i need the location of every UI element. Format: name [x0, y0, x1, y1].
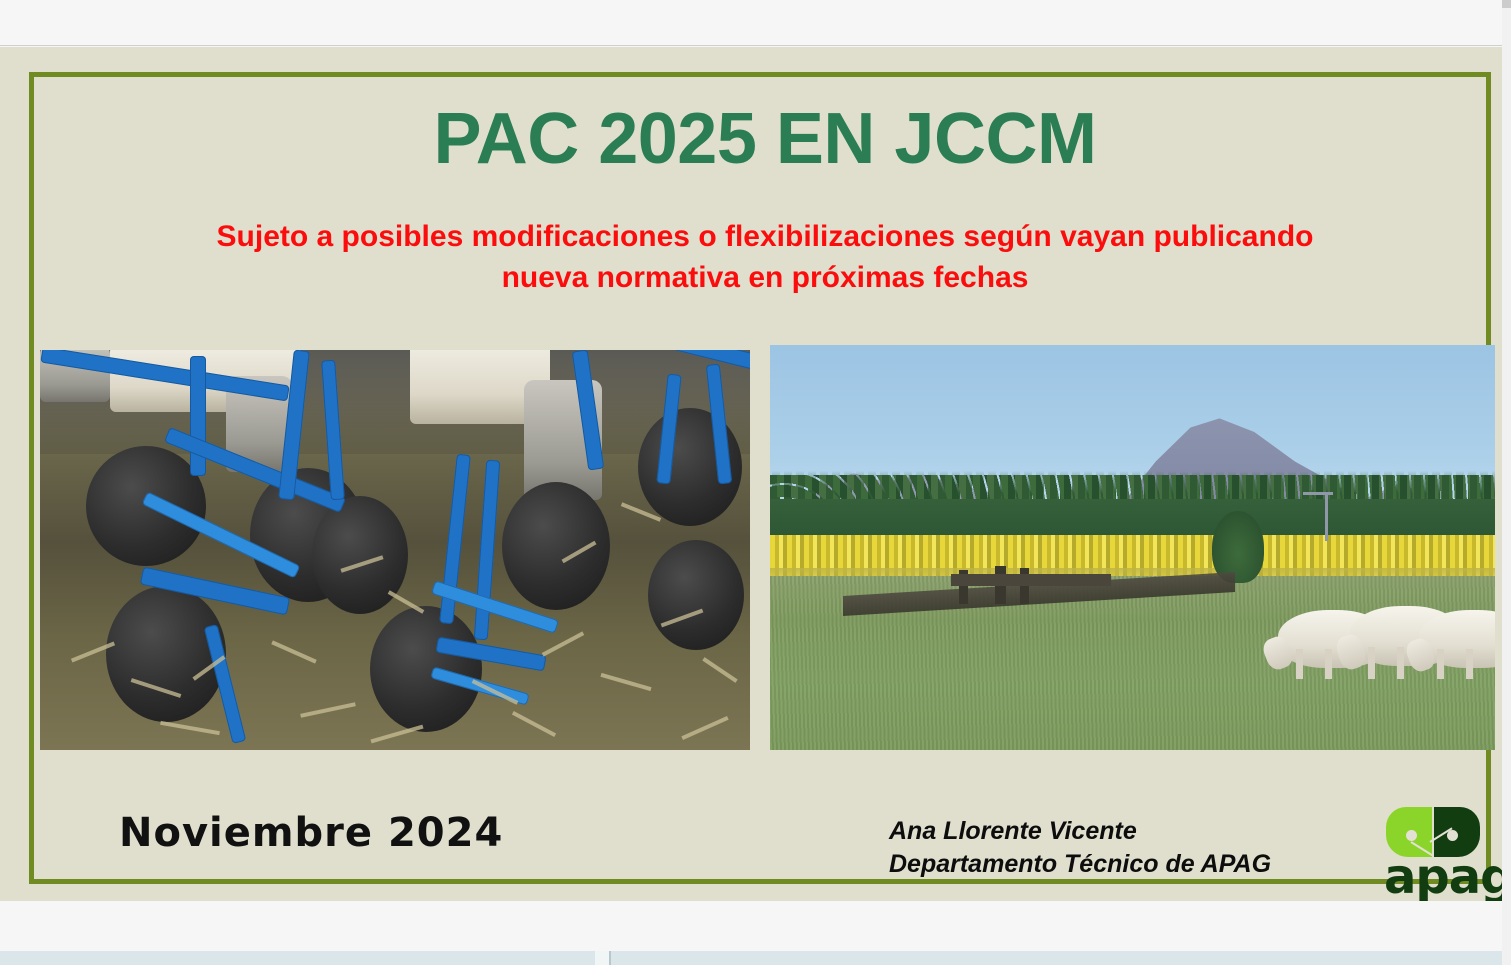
author-department: Departamento Técnico de APAG — [889, 848, 1271, 881]
status-bar-gap — [595, 951, 609, 965]
date-label: Noviembre 2024 — [119, 810, 503, 856]
subtitle-line-2: nueva normativa en próximas fechas — [94, 258, 1436, 299]
presentation-window: PAC 2025 EN JCCM Sujeto a posibles modif… — [0, 0, 1511, 965]
slide-subtitle: Sujeto a posibles modificaciones o flexi… — [94, 217, 1436, 298]
status-bar[interactable] — [0, 951, 1511, 965]
scrollbar-thumb[interactable] — [1502, 0, 1511, 8]
pasture-sheep-photo — [770, 345, 1495, 750]
status-bar-divider — [609, 951, 611, 965]
vertical-scrollbar[interactable] — [1502, 0, 1511, 965]
subtitle-line-1: Sujeto a posibles modificaciones o flexi… — [94, 217, 1436, 258]
author-name: Ana Llorente Vicente — [889, 815, 1271, 848]
apag-leaves-logo: apag — [1384, 807, 1492, 911]
slide-border-frame: PAC 2025 EN JCCM Sujeto a posibles modif… — [29, 72, 1491, 884]
seeder-machinery-photo — [40, 350, 750, 750]
slide-canvas: PAC 2025 EN JCCM Sujeto a posibles modif… — [0, 47, 1502, 901]
window-top-strip — [0, 0, 1511, 46]
author-block: Ana Llorente Vicente Departamento Técnic… — [889, 815, 1271, 881]
page-title: PAC 2025 EN JCCM — [34, 102, 1496, 178]
apag-wordmark: apag — [1384, 853, 1492, 901]
